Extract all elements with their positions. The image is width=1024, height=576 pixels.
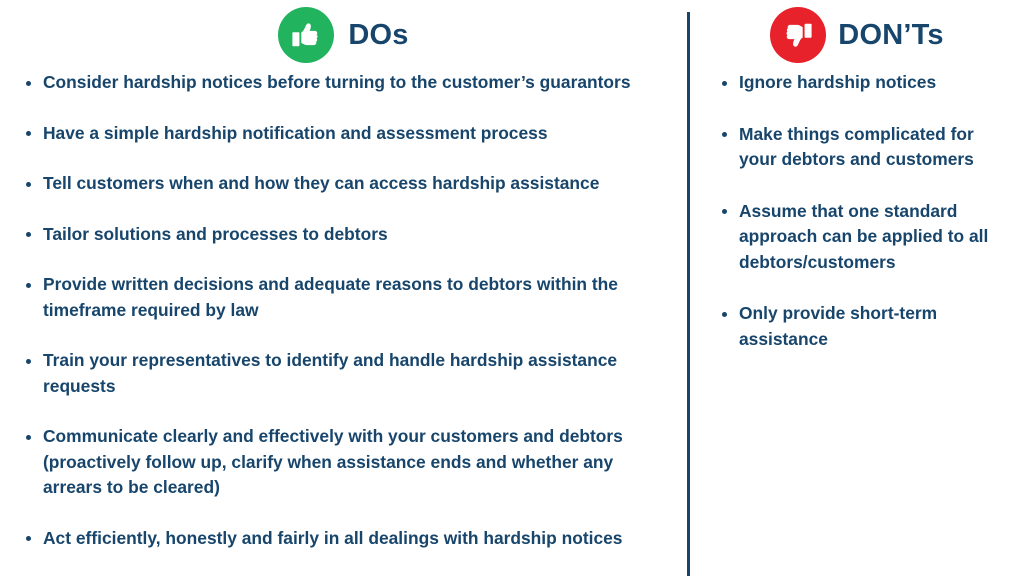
list-item: Have a simple hardship notification and … bbox=[26, 121, 673, 147]
list-item: Assume that one standard approach can be… bbox=[722, 199, 1006, 276]
dos-column: DOs Consider hardship notices before tur… bbox=[0, 0, 687, 576]
bullet-dot-icon bbox=[722, 209, 727, 214]
list-item-text: Have a simple hardship notification and … bbox=[43, 121, 673, 147]
donts-bullet-list: Ignore hardship notices Make things comp… bbox=[690, 70, 1024, 352]
list-item: Provide written decisions and adequate r… bbox=[26, 272, 673, 323]
bullet-dot-icon bbox=[26, 359, 31, 364]
bullet-dot-icon bbox=[26, 182, 31, 187]
bullet-dot-icon bbox=[26, 435, 31, 440]
list-item-text: Tailor solutions and processes to debtor… bbox=[43, 222, 673, 248]
donts-header: DON’Ts bbox=[690, 0, 1024, 70]
dos-bullet-list: Consider hardship notices before turning… bbox=[0, 70, 687, 551]
bullet-dot-icon bbox=[26, 131, 31, 136]
list-item-text: Provide written decisions and adequate r… bbox=[43, 272, 673, 323]
bullet-dot-icon bbox=[26, 283, 31, 288]
list-item: Ignore hardship notices bbox=[722, 70, 1006, 96]
donts-column: DON’Ts Ignore hardship notices Make thin… bbox=[690, 0, 1024, 378]
bullet-dot-icon bbox=[722, 132, 727, 137]
list-item-text: Communicate clearly and effectively with… bbox=[43, 424, 673, 501]
slide-canvas: DOs Consider hardship notices before tur… bbox=[0, 0, 1024, 576]
list-item: Consider hardship notices before turning… bbox=[26, 70, 673, 96]
dos-title: DOs bbox=[348, 21, 408, 50]
bullet-dot-icon bbox=[722, 81, 727, 86]
list-item: Tell customers when and how they can acc… bbox=[26, 171, 673, 197]
bullet-dot-icon bbox=[26, 536, 31, 541]
list-item: Tailor solutions and processes to debtor… bbox=[26, 222, 673, 248]
list-item-text: Only provide short-term assistance bbox=[739, 301, 1006, 352]
list-item-text: Make things complicated for your debtors… bbox=[739, 122, 1006, 173]
thumbs-down-icon bbox=[770, 7, 826, 63]
list-item: Act efficiently, honestly and fairly in … bbox=[26, 526, 673, 552]
list-item-text: Assume that one standard approach can be… bbox=[739, 199, 1006, 276]
list-item-text: Tell customers when and how they can acc… bbox=[43, 171, 673, 197]
list-item-text: Act efficiently, honestly and fairly in … bbox=[43, 526, 673, 552]
list-item: Only provide short-term assistance bbox=[722, 301, 1006, 352]
list-item-text: Ignore hardship notices bbox=[739, 70, 1006, 96]
bullet-dot-icon bbox=[26, 81, 31, 86]
bullet-dot-icon bbox=[26, 232, 31, 237]
list-item-text: Consider hardship notices before turning… bbox=[43, 70, 673, 96]
list-item: Train your representatives to identify a… bbox=[26, 348, 673, 399]
donts-title: DON’Ts bbox=[838, 21, 943, 50]
thumbs-up-icon bbox=[278, 7, 334, 63]
dos-header: DOs bbox=[0, 0, 687, 70]
list-item-text: Train your representatives to identify a… bbox=[43, 348, 673, 399]
list-item: Communicate clearly and effectively with… bbox=[26, 424, 673, 501]
bullet-dot-icon bbox=[722, 312, 727, 317]
list-item: Make things complicated for your debtors… bbox=[722, 122, 1006, 173]
